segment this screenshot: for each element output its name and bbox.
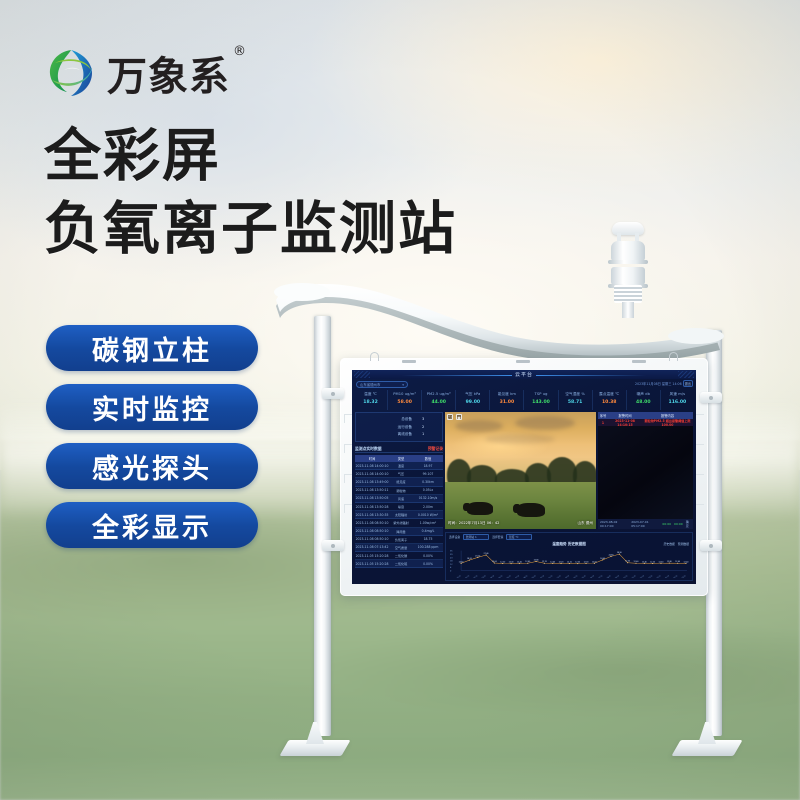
mount-bracket-bottom-left: [322, 540, 344, 551]
cell-value: 18.75: [413, 537, 443, 541]
svg-text:12.50: 12.50: [459, 561, 464, 563]
metric-value: 58.71: [559, 398, 592, 407]
metric-value: 99.00: [456, 398, 489, 407]
led-screen: 云平台 山东省德州市 ▾ 2023年11月08日 星期三 14:06 退出 温度…: [352, 370, 696, 584]
expand-icon[interactable]: ⛶: [447, 414, 453, 420]
svg-text:00:00: 00:00: [457, 575, 462, 578]
svg-text:21:00: 21:00: [632, 575, 637, 578]
metric-value: 48.00: [627, 398, 660, 407]
metric-2: PM2.5 ug/m³44.00: [422, 390, 456, 410]
metric-label: 风速 m/s: [661, 390, 694, 398]
metric-label: 气压 kPa: [456, 390, 489, 398]
metric-value: 31.00: [490, 398, 523, 407]
svg-text:29: 29: [450, 554, 453, 556]
metric-label: 空气湿度 %: [559, 390, 592, 398]
chart-element-select[interactable]: 温度 ℃: [506, 534, 532, 540]
svg-text:13.00: 13.00: [492, 561, 497, 563]
metric-6: 空气湿度 %58.71: [559, 390, 593, 410]
metric-5: TSP ug143.00: [524, 390, 558, 410]
cell-time: 2023-11-08 07:13:42: [355, 545, 389, 549]
alarm-empty-area: [598, 426, 693, 519]
cell-type: 空气质量: [389, 545, 413, 550]
table-row: 2023-11-08 14:00:10温度18.97: [355, 462, 443, 470]
cell-value: 100.288 ppm: [413, 545, 443, 549]
metric-label: TSP ug: [524, 390, 557, 398]
svg-text:24.80: 24.80: [609, 554, 614, 556]
camera-feed[interactable]: ⛶ ◉ 时间：2022年7月13日 06：42 山东 德州: [445, 412, 596, 529]
device-stat-row: 运行设备2: [362, 425, 436, 430]
cell-type: 能见度: [389, 479, 413, 484]
svg-text:17:00: 17:00: [598, 575, 603, 578]
svg-text:12.40: 12.40: [550, 561, 555, 563]
table-row: 2023-11-05 15:20:28二氧化硫0.00%: [355, 560, 443, 568]
table-row: 2023-11-08 13:50:28噪音2.00m: [355, 503, 443, 511]
svg-text:16:00: 16:00: [590, 575, 595, 578]
col-header-value: 数值: [413, 456, 443, 461]
chart-element-value: 温度 ℃: [509, 535, 519, 539]
metric-value: 10.38: [593, 398, 626, 407]
svg-text:28.90: 28.90: [617, 552, 622, 554]
cell-time: 2023-11-08 08:50:10: [355, 537, 389, 541]
realtime-table-title: 监测点实时数据: [355, 446, 382, 452]
svg-text:18.20: 18.20: [467, 558, 472, 560]
chart-filter-bar: 选择设备 监测站 1 选择要素 温度 ℃: [446, 533, 692, 541]
cell-type: 二氧化碳: [389, 553, 413, 558]
table-row: 2023-11-05 15:20:28二氧化碳0.00%: [355, 552, 443, 560]
svg-text:27.40: 27.40: [484, 553, 489, 555]
wave-canopy: [272, 276, 724, 368]
svg-text:12.20: 12.20: [500, 562, 505, 564]
feature-pill-3[interactable]: 全彩显示: [46, 502, 258, 548]
chart-filter-label-0: 选择设备: [449, 535, 460, 539]
registered-mark: ®: [233, 44, 247, 59]
metric-label: PM2.5 ug/m³: [422, 390, 455, 398]
svg-text:12.60: 12.60: [525, 561, 530, 563]
cabinet-hook-right: [669, 352, 678, 361]
col-header-time: 时间: [355, 456, 389, 461]
cell-type: 降雨量: [389, 529, 413, 534]
stat-value: 3: [422, 417, 436, 422]
table-row: 2023-11-08 08:50:10降雨量0.4mg/L: [355, 528, 443, 536]
svg-text:12.30: 12.30: [584, 561, 589, 563]
table-row: 2023-11-08 13:49:00能见度0.30km: [355, 478, 443, 486]
cell-time: 2023-11-08 14:00:10: [355, 464, 389, 468]
svg-text:18: 18: [450, 561, 453, 563]
feed-cow: [467, 502, 493, 515]
ultrasonic-weather-sensor: [604, 222, 652, 314]
svg-text:18:00: 18:00: [607, 575, 612, 578]
cell-value: 0.00%: [413, 562, 443, 566]
screen-corner-info: 2023年11月08日 星期三 14:06 退出: [635, 380, 693, 387]
svg-text:14:00: 14:00: [573, 575, 578, 578]
trend-chart-panel: 选择设备 监测站 1 选择要素 温度 ℃ 温度趋势 历史数据图 历史数据 预测数…: [445, 532, 693, 581]
table-row: 2023-11-08 08:50:10紫外线辐射1.00w/cm²: [355, 519, 443, 527]
cell-value: 18.97: [413, 464, 443, 468]
svg-text:12.40: 12.40: [642, 561, 647, 563]
table-column-headers: 时间 类型 数值: [355, 455, 443, 462]
cell-type: 温度: [389, 463, 413, 468]
station-select-value: 山东省德州市: [360, 382, 380, 387]
table-row: 2023-11-08 13:50:11颗粒物0.05Lx: [355, 487, 443, 495]
svg-text:6: 6: [450, 567, 452, 569]
chart-legend: 历史数据 预测数据: [664, 542, 689, 546]
svg-text:03:00: 03:00: [482, 575, 487, 578]
cabinet-tab-right: [632, 360, 646, 363]
svg-text:12.00: 12.00: [575, 562, 580, 564]
svg-text:15.80: 15.80: [534, 560, 539, 562]
alert-log-link[interactable]: 预警记录: [428, 446, 443, 452]
stat-value: 2: [422, 425, 436, 430]
cell-type: 颗粒物: [389, 488, 413, 493]
alarm-footer-bar: 2023-08-02 00:17:00 2023-07-01 05:17:00 …: [598, 519, 693, 529]
cell-value: 1.00w/cm²: [413, 521, 443, 525]
metric-strip: 温度 ℃18.32PM10 ug/m³58.00PM2.5 ug/m³44.00…: [354, 390, 694, 410]
device-stat-row: 总设备3: [362, 417, 436, 422]
cabinet-hook-left: [370, 352, 379, 361]
svg-text:12.10: 12.10: [567, 562, 572, 564]
metric-1: PM10 ug/m³58.00: [388, 390, 422, 410]
svg-text:23:00: 23:00: [648, 575, 653, 578]
cell-value: 2.00m: [413, 505, 443, 509]
svg-text:23.10: 23.10: [475, 555, 480, 557]
alarm-confirm-button[interactable]: 确定: [686, 520, 691, 528]
metric-value: 116.00: [661, 398, 694, 407]
cell-time: 2023-11-08 13:50:11: [355, 488, 389, 492]
device-stats: 总设备3运行设备2离线设备1: [355, 412, 443, 442]
feature-pill-0[interactable]: 碳钢立柱: [46, 325, 258, 371]
svg-text:13:00: 13:00: [565, 575, 570, 578]
svg-text:12:00: 12:00: [557, 575, 562, 578]
chevron-down-icon: ▾: [402, 383, 404, 387]
svg-text:20:00: 20:00: [623, 575, 628, 578]
svg-text:07:00: 07:00: [515, 575, 520, 578]
metric-label: 温度 ℃: [354, 390, 387, 398]
globe-swirl-logo: [45, 47, 97, 99]
cell-time: 2023-11-05 15:20:28: [355, 554, 389, 558]
svg-text:04:00: 04:00: [490, 575, 495, 578]
cell-time: 2023-11-08 13:50:28: [355, 505, 389, 509]
cell-value: 99.107: [413, 472, 443, 476]
svg-text:12.40: 12.40: [684, 561, 689, 563]
svg-text:01:00: 01:00: [665, 575, 670, 578]
svg-text:08:00: 08:00: [523, 575, 528, 578]
cabinet-tab-left: [402, 360, 416, 363]
chart-filter-label-1: 选择要素: [492, 535, 503, 539]
feed-cow: [517, 503, 545, 517]
support-post-left: [314, 316, 331, 736]
legend-item-1: 预测数据: [678, 542, 689, 546]
cell-time: 2023-11-08 08:50:10: [355, 521, 389, 525]
cell-value: 0.30km: [413, 480, 443, 484]
metric-8: 噪声 db48.00: [627, 390, 661, 410]
feature-pill-list: 碳钢立柱 实时监控 感光探头 全彩显示: [46, 325, 258, 548]
metric-4: 能见度 km31.00: [490, 390, 524, 410]
metric-9: 风速 m/s116.00: [661, 390, 694, 410]
cell-time: 2023-11-08 08:50:10: [355, 529, 389, 533]
alarm-clock-2: 00:00: [674, 522, 683, 526]
table-row: 2023-11-08 13:50:05风速0132.10m/s: [355, 495, 443, 503]
svg-text:02:00: 02:00: [473, 575, 478, 578]
svg-text:22:00: 22:00: [640, 575, 645, 578]
svg-text:06:00: 06:00: [507, 575, 512, 578]
metric-3: 气压 kPa99.00: [456, 390, 490, 410]
promo-banner: 万象系 ® 全彩屏 负氧离子监测站 碳钢立柱 实时监控 感光探头 全彩显示: [0, 0, 800, 800]
screen-title: 云平台: [352, 371, 696, 378]
col-header-type: 类型: [389, 456, 413, 461]
support-post-right: [706, 330, 722, 736]
svg-text:12.40: 12.40: [517, 561, 522, 563]
cell-time: 2023-11-08 13:50:05: [355, 496, 389, 500]
metric-label: 能见度 km: [490, 390, 523, 398]
cell-value: 0.05Lx: [413, 488, 443, 492]
cell-time: 2023-11-08 13:30:35: [355, 513, 389, 517]
brand-lockup: 万象系 ®: [45, 44, 230, 102]
cell-time: 2023-11-08 14:00:10: [355, 472, 389, 476]
mount-bracket-bottom-right: [700, 540, 722, 551]
cell-time: 2023-11-08 13:49:00: [355, 480, 389, 484]
screen-datetime: 2023年11月08日 星期三 14:06: [635, 382, 682, 386]
svg-text:35: 35: [450, 551, 453, 553]
svg-text:13.50: 13.50: [625, 561, 630, 563]
feature-pill-1[interactable]: 实时监控: [46, 384, 258, 430]
mount-bracket-top-right: [700, 392, 722, 403]
metric-value: 44.00: [422, 398, 455, 407]
metric-label: PM10 ug/m³: [388, 390, 421, 398]
feed-location: 山东 德州: [577, 521, 593, 526]
metric-label: 露点温度 ℃: [593, 390, 626, 398]
stat-value: 1: [422, 432, 436, 437]
cell-type: 风速: [389, 496, 413, 501]
brand-name: 万象系 ®: [107, 44, 230, 102]
svg-text:09:00: 09:00: [532, 575, 537, 578]
svg-text:12.60: 12.60: [675, 561, 680, 563]
legend-item-0: 历史数据: [664, 542, 675, 546]
alarm-col-time: 报警时间: [608, 413, 642, 418]
alarm-panel: 序号 报警时间 报警内容 1 2023-11-08 14:10:15 颗粒物PM…: [598, 412, 693, 529]
svg-text:01:00: 01:00: [465, 575, 470, 578]
alarm-range-start[interactable]: 2023-08-02 00:17:00: [600, 520, 628, 528]
realtime-table-header: 监测点实时数据 预警记录: [355, 446, 443, 453]
metric-label: 噪声 db: [627, 390, 660, 398]
realtime-table-body: 2023-11-08 14:00:10温度18.972023-11-08 14:…: [355, 462, 443, 568]
metric-7: 露点温度 ℃10.38: [593, 390, 627, 410]
brand-name-text: 万象系: [107, 54, 230, 100]
svg-text:12.60: 12.60: [634, 561, 639, 563]
cell-type: 负氧离子: [389, 537, 413, 542]
alarm-index: 1: [598, 421, 608, 425]
cell-type: 紫外线辐射: [389, 520, 413, 525]
svg-text:00:00: 00:00: [657, 575, 662, 578]
table-row: 2023-11-08 14:00:10气压99.107: [355, 470, 443, 478]
svg-text:11:00: 11:00: [548, 575, 553, 578]
alarm-row: 1 2023-11-08 14:10:15 颗粒物PM2.5 超出报警阈值上限 …: [598, 419, 693, 426]
svg-text:02:00: 02:00: [673, 575, 678, 578]
cell-type: 噪音: [389, 504, 413, 509]
svg-text:05:00: 05:00: [498, 575, 503, 578]
svg-text:12.80: 12.80: [667, 561, 672, 563]
alarm-clock-1: 00:00: [662, 522, 671, 526]
cabinet-tab-mid: [516, 360, 530, 363]
cell-type: 太阳辐射: [389, 512, 413, 517]
feed-timestamp: 时间：2022年7月13日 06：42: [448, 521, 499, 526]
svg-text:12.20: 12.20: [559, 562, 564, 564]
svg-text:15:00: 15:00: [582, 575, 587, 578]
stat-key: 离线设备: [362, 432, 422, 437]
alarm-range-end[interactable]: 2023-07-01 05:17:00: [631, 520, 659, 528]
table-row: 2023-11-08 13:30:35太阳辐射0.0010 W/m²: [355, 511, 443, 519]
headline-line-2: 负氧离子监测站: [44, 193, 457, 266]
alarm-col-index: 序号: [598, 413, 608, 418]
chart-device-value: 监测站 1: [466, 535, 477, 539]
svg-text:19:00: 19:00: [615, 575, 620, 578]
svg-text:18.60: 18.60: [600, 558, 605, 560]
svg-text:12.00: 12.00: [509, 562, 514, 564]
metric-0: 温度 ℃18.32: [354, 390, 388, 410]
cell-value: 0132.10m/s: [413, 496, 443, 500]
svg-text:12.50: 12.50: [659, 561, 664, 563]
cell-type: 二氧化硫: [389, 561, 413, 566]
svg-text:12: 12: [450, 564, 453, 566]
chart-device-select[interactable]: 监测站 1: [463, 534, 489, 540]
cell-value: 0.0010 W/m²: [413, 513, 443, 517]
metric-value: 143.00: [524, 398, 557, 407]
svg-text:10:00: 10:00: [540, 575, 545, 578]
cell-value: 0.4mg/L: [413, 529, 443, 533]
device-stat-row: 离线设备1: [362, 432, 436, 437]
stat-key: 总设备: [362, 417, 422, 422]
svg-text:12.70: 12.70: [542, 561, 547, 563]
headline-line-1: 全彩屏: [44, 120, 457, 193]
cell-type: 气压: [389, 471, 413, 476]
mount-bracket-top-left: [322, 388, 344, 399]
table-row: 2023-11-08 08:50:10负氧离子18.75: [355, 536, 443, 544]
chart-title: 温度趋势 历史数据图: [446, 542, 692, 547]
feed-controls: ⛶ ◉: [447, 414, 462, 420]
logout-button[interactable]: 退出: [683, 380, 693, 387]
snapshot-icon[interactable]: ◉: [456, 414, 462, 420]
table-row: 2023-11-08 07:13:42空气质量100.288 ppm: [355, 544, 443, 552]
svg-text:0: 0: [450, 570, 452, 572]
stat-key: 运行设备: [362, 425, 422, 430]
metric-value: 18.32: [354, 398, 387, 407]
left-data-panel: 总设备3运行设备2离线设备1 监测点实时数据 预警记录 时间 类型 数值 202…: [355, 412, 443, 580]
svg-text:23: 23: [450, 557, 453, 559]
svg-text:12.20: 12.20: [650, 562, 655, 564]
cell-time: 2023-11-05 15:20:28: [355, 562, 389, 566]
chart-plot-area: 06121823293512.5000:0018.2001:0023.1002:…: [449, 549, 689, 578]
feature-pill-2[interactable]: 感光探头: [46, 443, 258, 489]
station-select[interactable]: 山东省德州市 ▾: [356, 381, 408, 388]
svg-text:03:00: 03:00: [682, 575, 687, 578]
cell-value: 0.00%: [413, 554, 443, 558]
headline-block: 全彩屏 负氧离子监测站: [44, 120, 457, 266]
metric-value: 58.00: [388, 398, 421, 407]
svg-text:12.50: 12.50: [592, 561, 597, 563]
